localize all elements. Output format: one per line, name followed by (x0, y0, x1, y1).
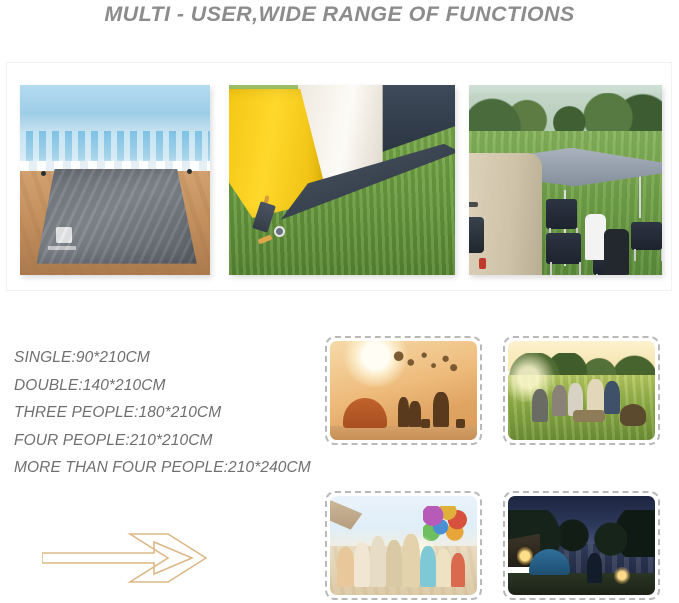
size-line-three-people: THREE PEOPLE:180*210CM (14, 399, 334, 427)
car-taillight (479, 258, 485, 269)
person-figure (587, 379, 603, 413)
thumb-meadow-picnic-image (508, 341, 655, 440)
person-silhouette (398, 397, 410, 427)
beach-ground (330, 426, 477, 440)
product-photo-gallery (6, 62, 672, 291)
thumb-sunset-beach-camping-image (330, 341, 477, 440)
awning-pole (639, 176, 641, 218)
size-line-single: SINGLE:90*210CM (14, 344, 334, 372)
person-figure (552, 385, 567, 417)
parked-car (469, 153, 542, 275)
photo-car-awning-image (469, 85, 662, 275)
camp-stool (421, 419, 430, 428)
person-figure (532, 389, 548, 423)
brand-logo-text (48, 246, 76, 250)
thumb-beach-party[interactable] (325, 491, 482, 600)
picnic-basket (620, 404, 646, 426)
photo-car-awning (469, 85, 662, 275)
size-line-four-people: FOUR PEOPLE:210*210CM (14, 427, 334, 455)
person-figure (436, 549, 451, 587)
thumb-meadow-picnic[interactable] (503, 336, 660, 445)
camp-chair (546, 199, 577, 229)
roof-rack (469, 202, 478, 207)
camp-chair (631, 222, 662, 251)
brand-logo-icon (56, 227, 72, 243)
page-title: MULTI - USER,WIDE RANGE OF FUNCTIONS (0, 2, 679, 27)
person-figure (337, 547, 353, 587)
person-figure (370, 536, 386, 587)
grommet-icon (274, 226, 285, 237)
car-rear-window (469, 217, 484, 253)
person-figure (420, 546, 436, 588)
size-line-double: DOUBLE:140*210CM (14, 372, 334, 400)
picnic-spread (573, 410, 605, 422)
adult-figure (604, 229, 629, 275)
person-figure (451, 553, 466, 587)
right-arrow-svg (42, 530, 217, 586)
grey-tarp (33, 169, 196, 264)
size-line-more-than-four: MORE THAN FOUR PEOPLE:210*240CM (14, 454, 334, 482)
person-figure (604, 381, 620, 415)
person-figure (354, 542, 370, 588)
person-silhouette (409, 401, 421, 427)
camp-stool (456, 419, 465, 428)
bird-flock (392, 351, 460, 377)
photo-beach-tarp (20, 85, 210, 275)
person-silhouette (433, 392, 449, 428)
sky-region (20, 85, 210, 136)
arrow-shaft-and-head (42, 542, 192, 574)
right-arrow-icon (42, 530, 217, 586)
thumb-night-lakeside-image (508, 496, 655, 595)
person-figure (402, 534, 420, 587)
thumb-night-lakeside[interactable] (503, 491, 660, 600)
child-figure (585, 214, 606, 260)
photo-tent-footprint-image (229, 85, 455, 275)
camp-chair (546, 233, 581, 263)
thumb-beach-party-image (330, 496, 477, 595)
arrow-chevron (130, 534, 206, 582)
tarp-corner-peg (187, 169, 192, 174)
size-specification-list: SINGLE:90*210CM DOUBLE:140*210CM THREE P… (14, 344, 334, 482)
tarp-corner-peg (41, 171, 46, 176)
shore-ground (508, 573, 655, 595)
ground-lantern-icon (614, 567, 630, 584)
thumb-sunset-beach-camping[interactable] (325, 336, 482, 445)
photo-beach-tarp-image (20, 85, 210, 275)
person-figure (386, 540, 402, 588)
person-figure (587, 553, 602, 583)
photo-tent-footprint (229, 85, 455, 275)
